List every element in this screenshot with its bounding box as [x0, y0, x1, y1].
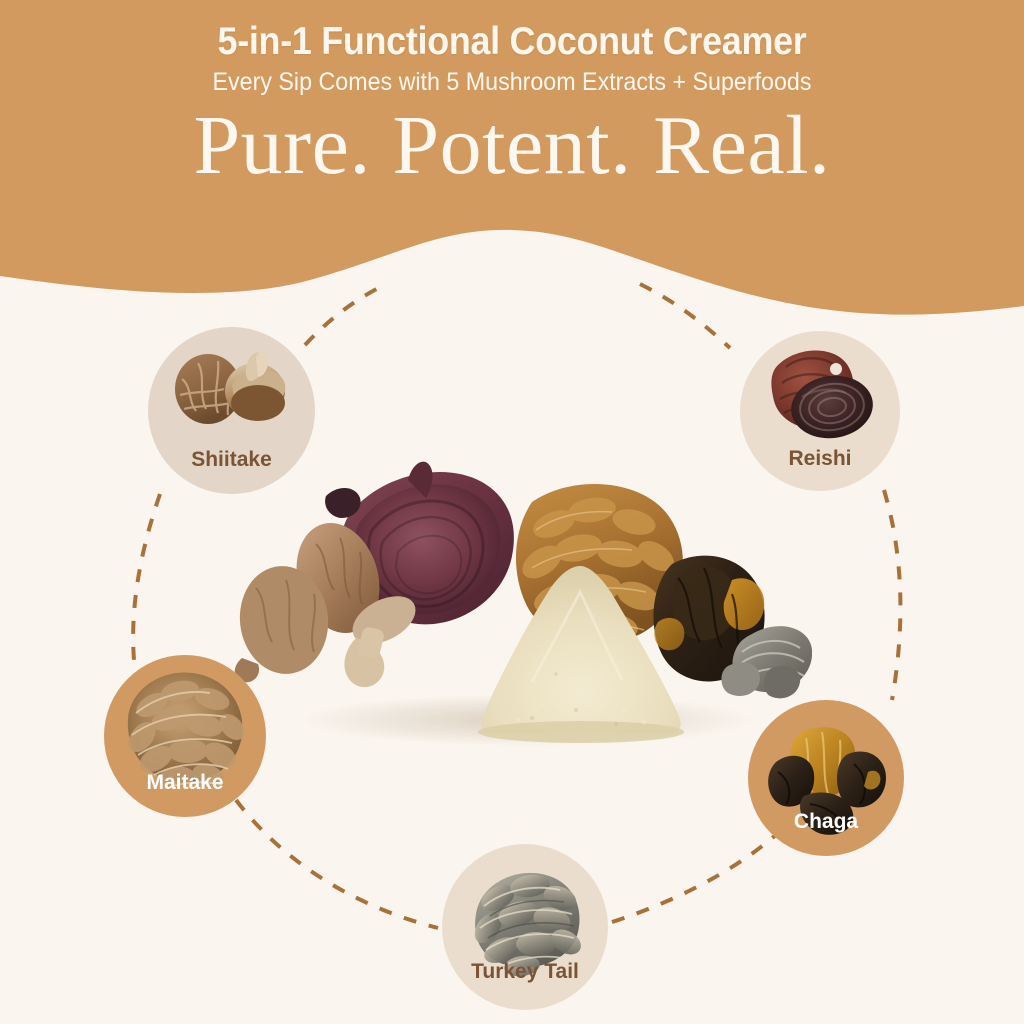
product-tagline-line1: 5-in-1 Functional Coconut Creamer — [41, 0, 983, 63]
badge-label-reishi: Reishi — [740, 448, 900, 469]
dashed-arc-maitake-to-turkeytail — [236, 800, 438, 928]
ingredient-badge-chaga[interactable]: Chaga — [748, 700, 904, 856]
ingredient-badge-shiitake[interactable]: Shiitake — [148, 327, 315, 494]
turkey-tail-mushroom-icon — [442, 844, 608, 1010]
badge-label-shiitake: Shiitake — [148, 449, 315, 470]
badge-label-maitake: Maitake — [104, 772, 266, 793]
header-text-block: 5-in-1 Functional Coconut Creamer Every … — [0, 0, 1024, 230]
headline: Pure. Potent. Real. — [0, 96, 1024, 188]
product-infographic: 5-in-1 Functional Coconut Creamer Every … — [0, 0, 1024, 1024]
hero-mushroom-powder-image — [232, 452, 812, 752]
dashed-arc-reishi-to-chaga — [884, 490, 900, 700]
badge-label-turkeytail: Turkey Tail — [442, 961, 608, 982]
ingredient-badge-maitake[interactable]: Maitake — [104, 655, 266, 817]
badge-label-chaga: Chaga — [748, 811, 904, 832]
ingredient-badge-reishi[interactable]: Reishi — [740, 331, 900, 491]
product-tagline-line2: Every Sip Comes with 5 Mushroom Extracts… — [36, 63, 988, 97]
dashed-arc-shiitake-to-maitake — [133, 494, 160, 660]
ingredient-badge-turkeytail[interactable]: Turkey Tail — [442, 844, 608, 1010]
